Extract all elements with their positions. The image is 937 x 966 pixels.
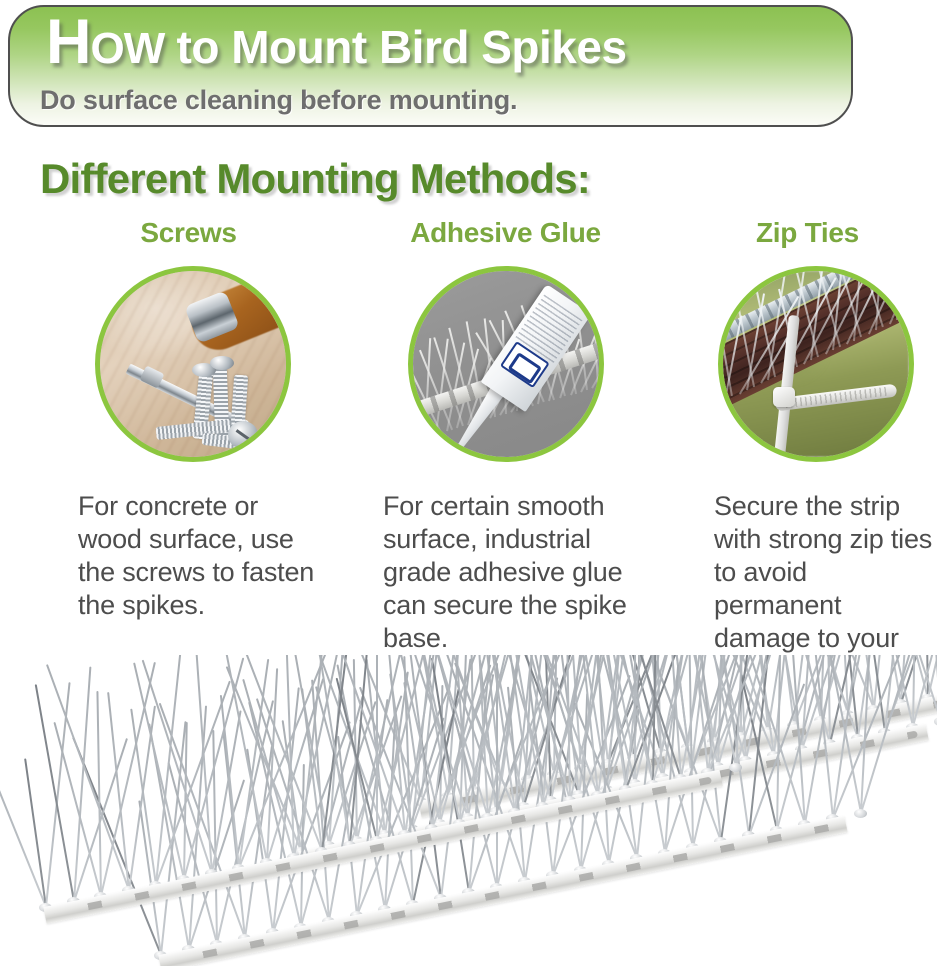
method-column-adhesive-glue: Adhesive Glue For certain smooth surface… [373, 214, 638, 655]
method-column-screws: Screws For concrete or wood surface, use… [60, 214, 325, 622]
method-description-adhesive-glue: For certain smooth surface, industrial g… [373, 490, 638, 655]
method-title-zip-ties: Zip Ties [700, 214, 937, 254]
method-description-screws: For concrete or wood surface, use the sc… [60, 490, 325, 622]
page-title-lead: How [46, 7, 164, 77]
section-heading: Different Mounting Methods: [40, 155, 590, 203]
screwdriver-and-screws-on-wood-photo [95, 266, 291, 462]
stainless-steel-bird-spike-strips-photo [0, 655, 937, 966]
method-title-screws: Screws [60, 214, 325, 254]
method-title-adhesive-glue: Adhesive Glue [373, 214, 638, 254]
header-banner: How to Mount Bird Spikes Do surface clea… [8, 5, 853, 127]
method-column-zip-ties: Zip Ties Secure the strip with strong zi… [700, 214, 937, 688]
page-title-rest: to Mount Bird Spikes [164, 21, 626, 73]
adhesive-glue-tube-on-spike-strip-photo [408, 266, 604, 462]
page-title: How to Mount Bird Spikes [46, 11, 627, 74]
page-subtitle: Do surface cleaning before mounting. [40, 85, 517, 116]
zip-tie-securing-spikes-to-fence-photo [718, 266, 914, 462]
